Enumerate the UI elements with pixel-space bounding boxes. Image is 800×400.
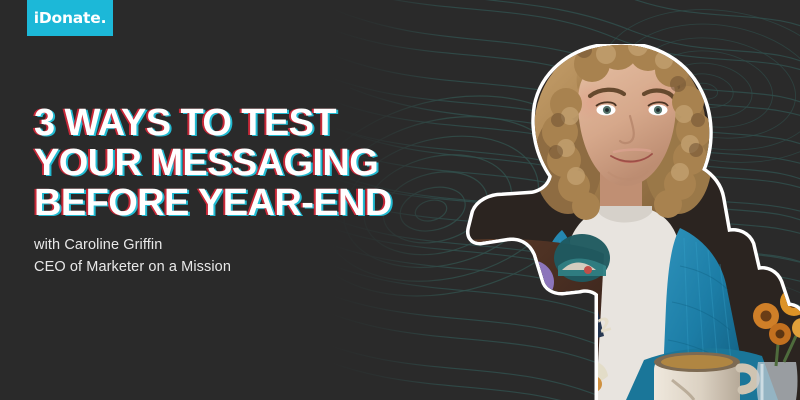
logo-wordmark: iDonate. <box>34 9 107 27</box>
headline-line-3: BEFORE YEAR-END <box>34 183 414 223</box>
speaker-name: with Caroline Griffin <box>34 234 231 256</box>
headline: 3 WAYS TO TEST YOUR MESSAGING BEFORE YEA… <box>34 103 414 223</box>
speaker-photo: 1972 <box>466 44 800 400</box>
promo-banner: iDonate. <box>0 0 800 400</box>
speaker-title: CEO of Marketer on a Mission <box>34 256 231 278</box>
headline-line-1: 3 WAYS TO TEST <box>34 103 414 143</box>
headline-line-2: YOUR MESSAGING <box>34 143 414 183</box>
idonate-logo[interactable]: iDonate. <box>27 0 113 36</box>
speaker-photo-illustration: 1972 <box>466 44 800 400</box>
subtitle: with Caroline Griffin CEO of Marketer on… <box>34 234 231 278</box>
